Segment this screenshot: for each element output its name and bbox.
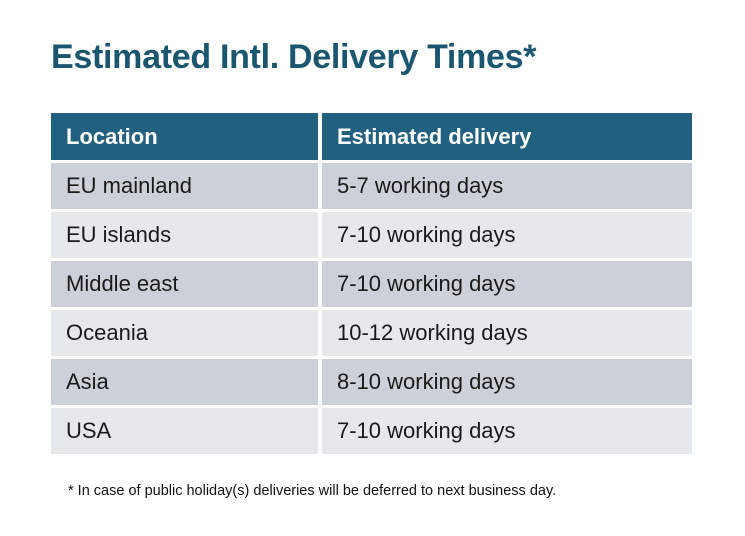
- table-row: USA 7-10 working days: [51, 408, 692, 454]
- table-row: Oceania 10-12 working days: [51, 310, 692, 356]
- cell-estimated-delivery: 7-10 working days: [322, 212, 692, 258]
- delivery-times-table: Location Estimated delivery EU mainland …: [51, 113, 692, 457]
- table-header-row: Location Estimated delivery: [51, 113, 692, 160]
- page-title: Estimated Intl. Delivery Times*: [51, 36, 536, 78]
- cell-estimated-delivery: 5-7 working days: [322, 163, 692, 209]
- table-row: EU mainland 5-7 working days: [51, 163, 692, 209]
- table-row: EU islands 7-10 working days: [51, 212, 692, 258]
- cell-location: EU mainland: [51, 163, 318, 209]
- cell-estimated-delivery: 10-12 working days: [322, 310, 692, 356]
- cell-location: Asia: [51, 359, 318, 405]
- cell-estimated-delivery: 7-10 working days: [322, 261, 692, 307]
- cell-location: USA: [51, 408, 318, 454]
- table-row: Middle east 7-10 working days: [51, 261, 692, 307]
- column-header-estimated-delivery: Estimated delivery: [322, 113, 692, 160]
- column-header-location: Location: [51, 113, 318, 160]
- cell-location: Middle east: [51, 261, 318, 307]
- cell-estimated-delivery: 8-10 working days: [322, 359, 692, 405]
- footnote: * In case of public holiday(s) deliverie…: [68, 481, 556, 501]
- cell-estimated-delivery: 7-10 working days: [322, 408, 692, 454]
- cell-location: EU islands: [51, 212, 318, 258]
- table-row: Asia 8-10 working days: [51, 359, 692, 405]
- cell-location: Oceania: [51, 310, 318, 356]
- delivery-times-document: Estimated Intl. Delivery Times* Location…: [0, 0, 745, 536]
